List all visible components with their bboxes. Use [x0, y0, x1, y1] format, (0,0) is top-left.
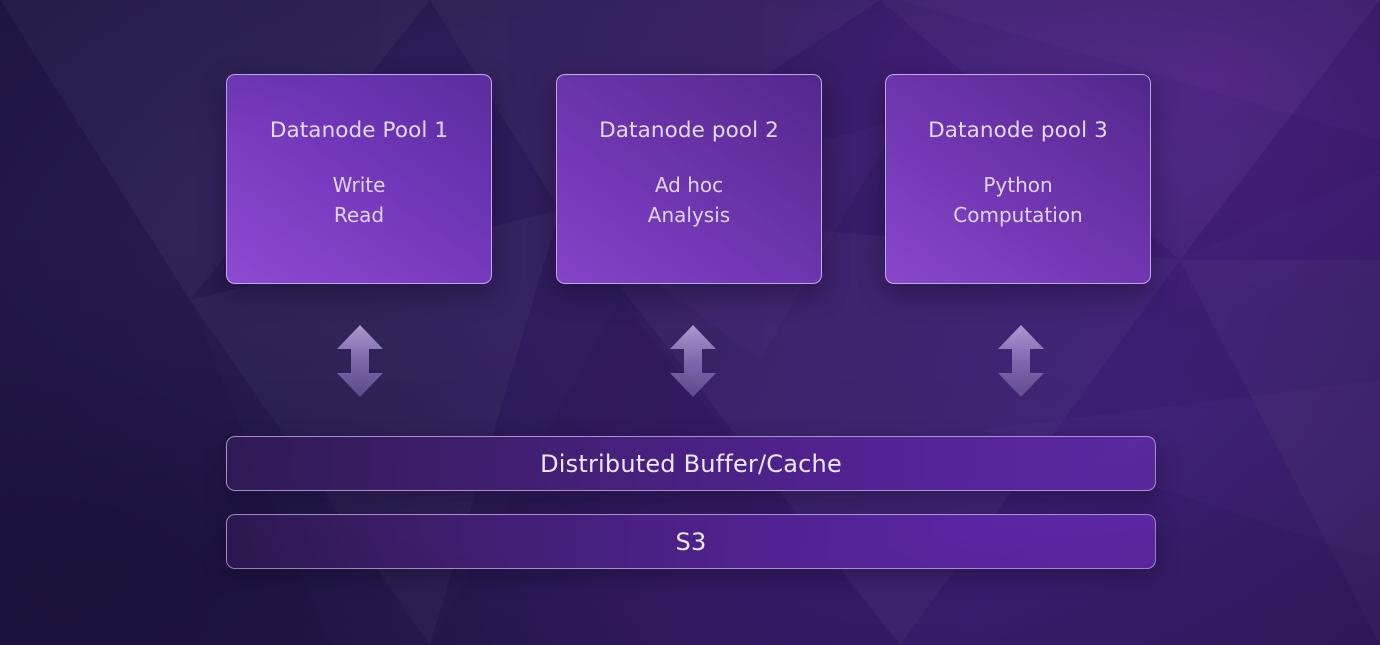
pool-box-2-roles: Ad hoc Analysis [648, 170, 730, 230]
pool-box-2-role-1: Ad hoc [648, 170, 730, 200]
layer-bar-s3-label: S3 [676, 528, 707, 556]
layer-bar-distributed-buffer-cache[interactable]: Distributed Buffer/Cache [226, 436, 1156, 491]
pool-box-2-title: Datanode pool 2 [599, 119, 779, 143]
pool-box-2[interactable]: Datanode pool 2 Ad hoc Analysis [556, 74, 822, 284]
pool-box-1-roles: Write Read [333, 170, 386, 230]
pool-box-3-role-2: Computation [953, 200, 1082, 230]
pool-box-3-role-1: Python [953, 170, 1082, 200]
pool-box-2-role-2: Analysis [648, 200, 730, 230]
pool-box-3-roles: Python Computation [953, 170, 1082, 230]
pool-box-3-title: Datanode pool 3 [928, 119, 1108, 143]
pool-box-1-title: Datanode Pool 1 [270, 119, 448, 143]
diagram-canvas: Datanode Pool 1 Write Read Datanode pool… [0, 0, 1380, 645]
double-arrow-icon-1 [337, 325, 383, 397]
layer-bar-s3[interactable]: S3 [226, 514, 1156, 569]
pool-box-1[interactable]: Datanode Pool 1 Write Read [226, 74, 492, 284]
pool-box-1-role-1: Write [333, 170, 386, 200]
double-arrow-icon-3 [998, 325, 1044, 397]
pool-box-3[interactable]: Datanode pool 3 Python Computation [885, 74, 1151, 284]
double-arrow-icon-2 [670, 325, 716, 397]
layer-bar-distributed-buffer-cache-label: Distributed Buffer/Cache [540, 450, 842, 478]
pool-box-1-role-2: Read [333, 200, 386, 230]
